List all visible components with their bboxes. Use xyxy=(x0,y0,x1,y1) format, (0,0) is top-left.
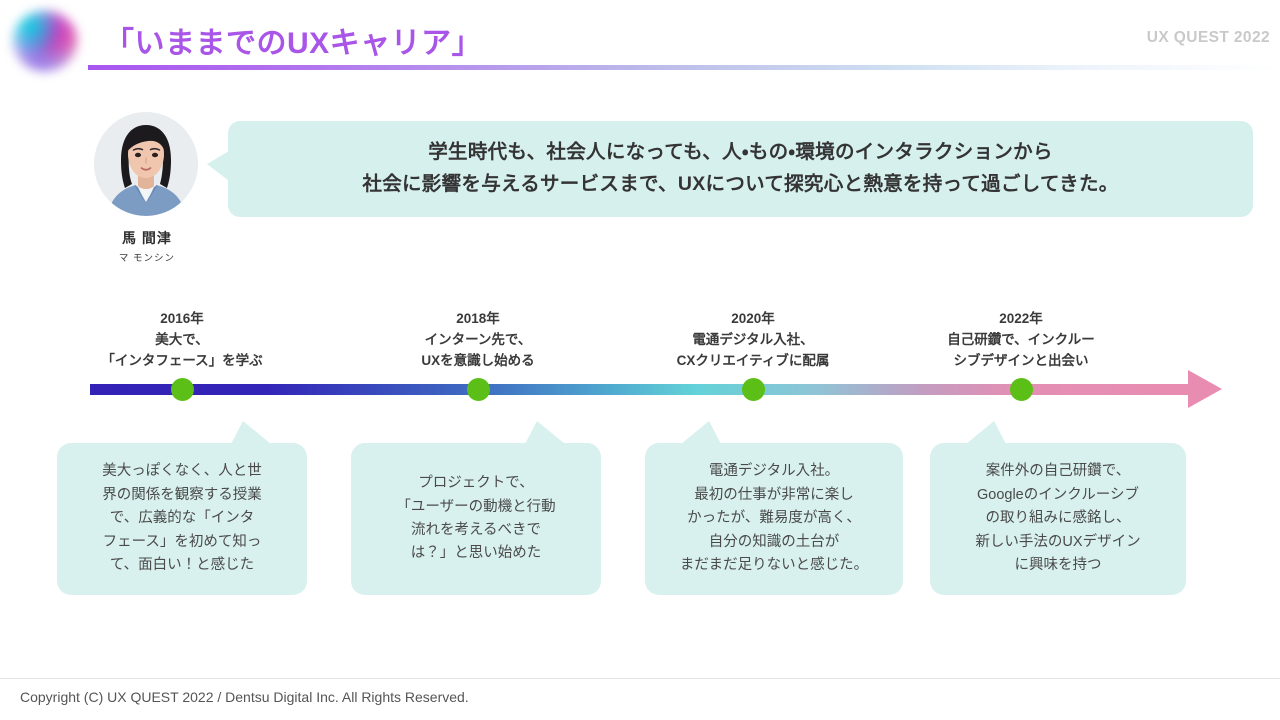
footer-divider xyxy=(0,678,1280,679)
slide-header: 「いままでのUXキャリア」 UX QUEST 2022 xyxy=(0,0,1280,80)
summary-quote-bubble: 学生時代も、社会人になっても、人・もの・環境のインタラクションから 社会に影響を… xyxy=(228,121,1253,217)
timeline-note-2016: 美大っぽくなく、人と世 界の関係を観察する授業 で、広義的な「インタ フェース」… xyxy=(57,443,307,595)
timeline-node-2022[interactable] xyxy=(1010,378,1033,401)
bubble-tail-icon xyxy=(525,421,565,444)
timeline-label-2020: 2020年 電通デジタル入社、 CXクリエイティブに配属 xyxy=(628,308,878,371)
person-name: 馬 間津 xyxy=(94,228,200,248)
footer-copyright: Copyright (C) UX QUEST 2022 / Dentsu Dig… xyxy=(20,689,469,705)
person-portrait-avatar-icon xyxy=(94,112,198,216)
timeline-note-text-2020: 電通デジタル入社。 最初の仕事が非常に楽し かったが、難易度が高く、 自分の知識… xyxy=(668,460,880,577)
timeline-node-2016[interactable] xyxy=(171,378,194,401)
person-block: 馬 間津 マ モンシン xyxy=(94,112,200,264)
timeline-label-2022: 2022年 自己研鑽で、インクルー シブデザインと出会い xyxy=(896,308,1146,371)
bubble-tail-icon xyxy=(231,421,271,444)
person-name-reading: マ モンシン xyxy=(94,250,200,264)
timeline-node-2020[interactable] xyxy=(742,378,765,401)
summary-quote-text: 学生時代も、社会人になっても、人・もの・環境のインタラクションから 社会に影響を… xyxy=(362,137,1118,200)
bubble-tail-icon xyxy=(681,421,721,444)
timeline-note-text-2018: プロジェクトで、 「ユーザーの動機と行動 流れを考えるべきで は？」と思い始めた xyxy=(384,472,567,566)
timeline-note-text-2022: 案件外の自己研鑽で、 Googleのインクルーシブ の取り組みに感銘し、 新しい… xyxy=(963,460,1152,577)
timeline-note-2018: プロジェクトで、 「ユーザーの動機と行動 流れを考えるべきで は？」と思い始めた xyxy=(351,443,601,595)
page-title: 「いままでのUXキャリア」 xyxy=(104,18,482,62)
title-underline-rule xyxy=(88,65,1280,70)
arrow-right-head-icon xyxy=(1188,370,1222,408)
gradient-orb-logo-icon xyxy=(12,10,78,72)
career-timeline: 2016年 美大で、 「インタフェース」を学ぶ 2018年 インターン先で、 U… xyxy=(0,300,1280,410)
timeline-label-2016: 2016年 美大で、 「インタフェース」を学ぶ xyxy=(57,308,307,371)
timeline-label-2018: 2018年 インターン先で、 UXを意識し始める xyxy=(353,308,603,371)
timeline-note-2020: 電通デジタル入社。 最初の仕事が非常に楽し かったが、難易度が高く、 自分の知識… xyxy=(645,443,903,595)
timeline-node-2018[interactable] xyxy=(467,378,490,401)
timeline-note-text-2016: 美大っぽくなく、人と世 界の関係を観察する授業 で、広義的な「インタ フェース」… xyxy=(90,460,274,577)
bubble-tail-icon xyxy=(966,421,1006,444)
timeline-note-2022: 案件外の自己研鑽で、 Googleのインクルーシブ の取り組みに感銘し、 新しい… xyxy=(930,443,1186,595)
brand-mark: UX QUEST 2022 xyxy=(1147,29,1270,47)
